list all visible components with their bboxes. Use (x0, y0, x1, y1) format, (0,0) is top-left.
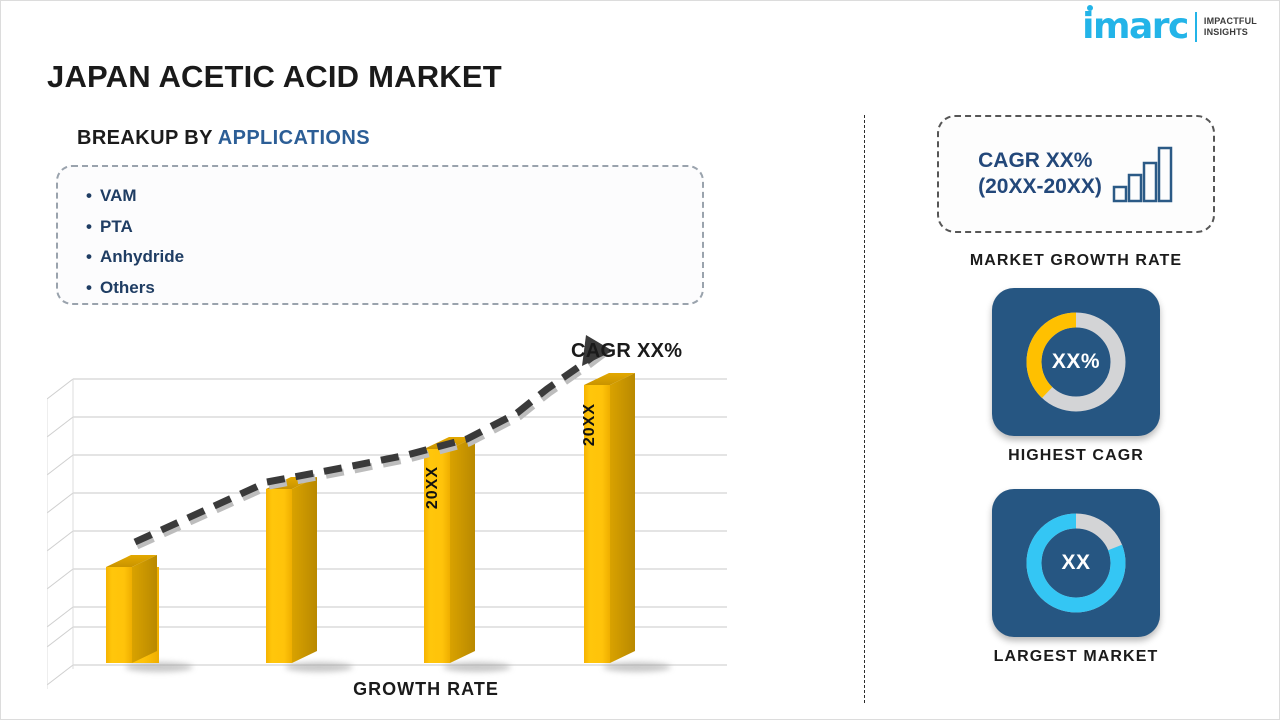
logo-wordmark: imarc (1082, 9, 1188, 45)
bullet-icon: • (86, 242, 100, 273)
logo-tagline-line2: INSIGHTS (1204, 27, 1257, 38)
largest-market-tile: XX (992, 489, 1160, 637)
bar-2 (266, 477, 317, 663)
chart-canvas (47, 327, 807, 707)
chart-xaxis-label: GROWTH RATE (301, 679, 551, 700)
highest-cagr-value: XX% (1052, 350, 1100, 374)
bar-1 (106, 555, 159, 663)
right-panel: CAGR XX% (20XX-20XX) MARKET GROWTH RATE … (901, 115, 1251, 666)
largest-market-caption: LARGEST MARKET (901, 648, 1251, 666)
list-item: •Anhydride (86, 242, 702, 273)
bullet-icon: • (86, 181, 100, 212)
bar-shadows (125, 662, 671, 672)
section-subheading: BREAKUP BY APPLICATIONS (77, 127, 370, 150)
list-item-label: Anhydride (100, 247, 184, 266)
applications-list: •VAM •PTA •Anhydride •Others (58, 167, 702, 303)
bullet-icon: • (86, 212, 100, 243)
imarc-logo: imarc IMPACTFUL INSIGHTS (1082, 9, 1257, 45)
chart-cagr-annotation: CAGR XX% (571, 340, 682, 363)
list-item-label: PTA (100, 217, 133, 236)
highest-cagr-caption: HIGHEST CAGR (901, 447, 1251, 465)
infographic-slide: imarc IMPACTFUL INSIGHTS JAPAN ACETIC AC… (0, 0, 1280, 720)
page-title: JAPAN ACETIC ACID MARKET (47, 59, 502, 95)
cagr-line-2: (20XX-20XX) (978, 174, 1102, 200)
list-item-label: VAM (100, 186, 137, 205)
logo-tagline: IMPACTFUL INSIGHTS (1204, 16, 1257, 39)
subheading-prefix: BREAKUP BY (77, 127, 218, 149)
subheading-accent: APPLICATIONS (218, 127, 370, 149)
market-growth-rate-caption: MARKET GROWTH RATE (901, 252, 1251, 270)
logo-tagline-line1: IMPACTFUL (1204, 16, 1257, 27)
logo-wordmark-text: imarc (1082, 6, 1188, 47)
growth-bar-chart (47, 327, 807, 707)
list-item-label: Others (100, 278, 155, 297)
largest-market-value: XX (1061, 551, 1090, 575)
bar-label-4: 20XX (581, 403, 599, 446)
cagr-callout-box: CAGR XX% (20XX-20XX) (937, 115, 1215, 233)
list-item: •VAM (86, 181, 702, 212)
logo-divider (1195, 12, 1197, 42)
applications-box: •VAM •PTA •Anhydride •Others (56, 165, 704, 305)
cagr-line-1: CAGR XX% (978, 148, 1102, 174)
bullet-icon: • (86, 273, 100, 304)
bar-chart-icon (1112, 145, 1174, 203)
list-item: •PTA (86, 212, 702, 243)
cagr-callout-text: CAGR XX% (20XX-20XX) (978, 148, 1102, 199)
bar-label-3: 20XX (424, 466, 442, 509)
highest-cagr-tile: XX% (992, 288, 1160, 436)
vertical-divider (864, 115, 865, 703)
list-item: •Others (86, 273, 702, 304)
